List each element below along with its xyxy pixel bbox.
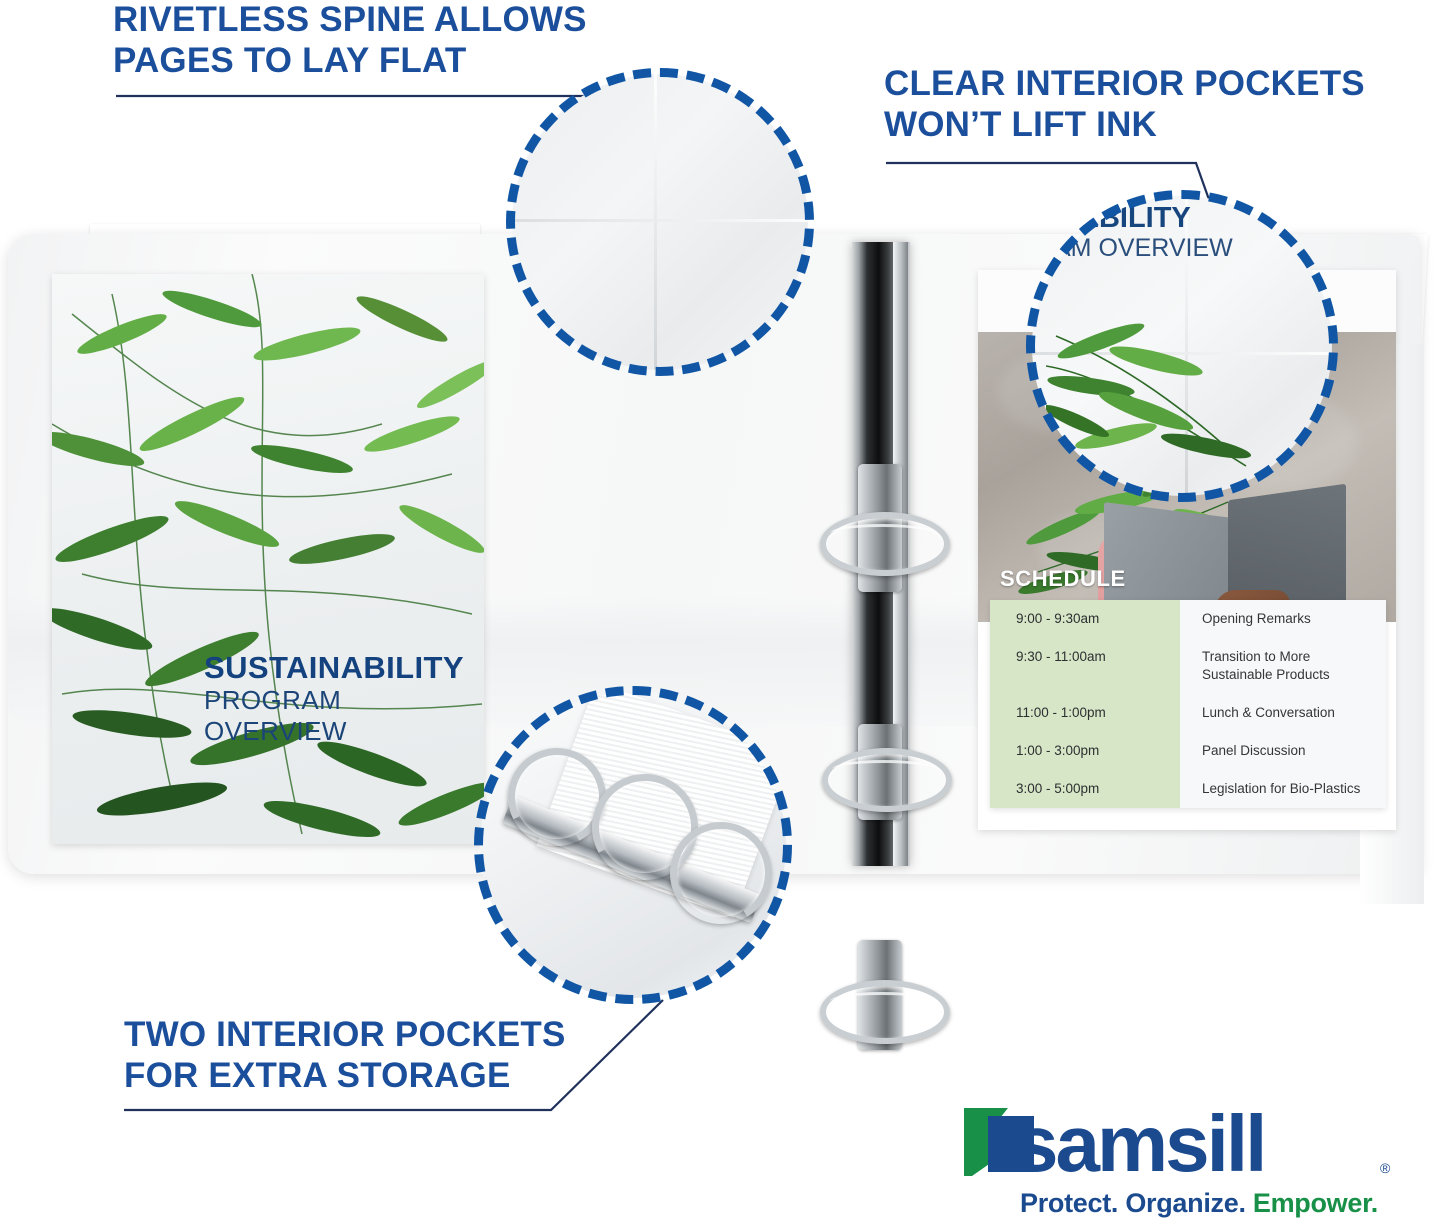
callout-clear-pockets-label: CLEAR INTERIOR POCKETS WON’T LIFT INK [884,64,1404,145]
magnifier-right-dashed-ring-icon [1026,190,1338,502]
schedule-row-time: 9:30 - 11:00am [990,638,1180,694]
schedule-table: 9:00 - 9:30amOpening Remarks9:30 - 11:00… [990,600,1386,808]
magnifier-top-dashed-ring-icon [506,68,814,376]
schedule-row-session: Lunch & Conversation [1180,694,1386,732]
magnifier-bottom-dashed-ring-icon [474,686,792,1004]
samsill-logo: samsill ® Protect. Organize. Empower. [962,1104,1392,1224]
schedule-row-time: 9:00 - 9:30am [990,600,1180,638]
registered-trademark-icon: ® [1380,1160,1390,1176]
tagline-protect-organize: Protect. Organize. [1020,1188,1253,1218]
schedule-row-time: 3:00 - 5:00pm [990,770,1180,808]
schedule-heading: SCHEDULE [1000,566,1126,592]
schedule-row: 9:00 - 9:30amOpening Remarks [990,600,1386,638]
schedule-row-time: 1:00 - 3:00pm [990,732,1180,770]
bamboo-illustration [52,274,484,844]
samsill-tagline: Protect. Organize. Empower. [1020,1188,1378,1219]
binder-ring-bottom [820,980,950,1044]
cover-sheet-subtitle: PROGRAM OVERVIEW [204,685,474,746]
schedule-row: 3:00 - 5:00pmLegislation for Bio-Plastic… [990,770,1386,808]
tagline-empower: Empower. [1253,1188,1378,1218]
schedule-row-session: Transition to More Sustainable Products [1180,638,1386,694]
binder-ring-middle [822,748,952,812]
schedule-block: SCHEDULE 9:00 - 9:30amOpening Remarks9:3… [978,600,1396,830]
schedule-row-session: Panel Discussion [1180,732,1386,770]
schedule-row-time: 11:00 - 1:00pm [990,694,1180,732]
schedule-row: 11:00 - 1:00pmLunch & Conversation [990,694,1386,732]
schedule-row: 1:00 - 3:00pmPanel Discussion [990,732,1386,770]
samsill-wordmark: samsill [1014,1104,1264,1184]
schedule-row-session: Opening Remarks [1180,600,1386,638]
schedule-row-session: Legislation for Bio-Plastics [1180,770,1386,808]
schedule-row: 9:30 - 11:00amTransition to More Sustain… [990,638,1386,694]
cover-sheet-title: SUSTAINABILITY [204,652,474,683]
callout-rivetless-spine-label: RIVETLESS SPINE ALLOWS PAGES TO LAY FLAT [113,0,673,81]
sustainability-cover-sheet: SUSTAINABILITY PROGRAM OVERVIEW [52,274,484,844]
cover-sheet-title-block: SUSTAINABILITY PROGRAM OVERVIEW [204,652,474,746]
callout-two-pockets-label: TWO INTERIOR POCKETS FOR EXTRA STORAGE [124,1015,684,1096]
binder-ring-top [820,512,950,576]
